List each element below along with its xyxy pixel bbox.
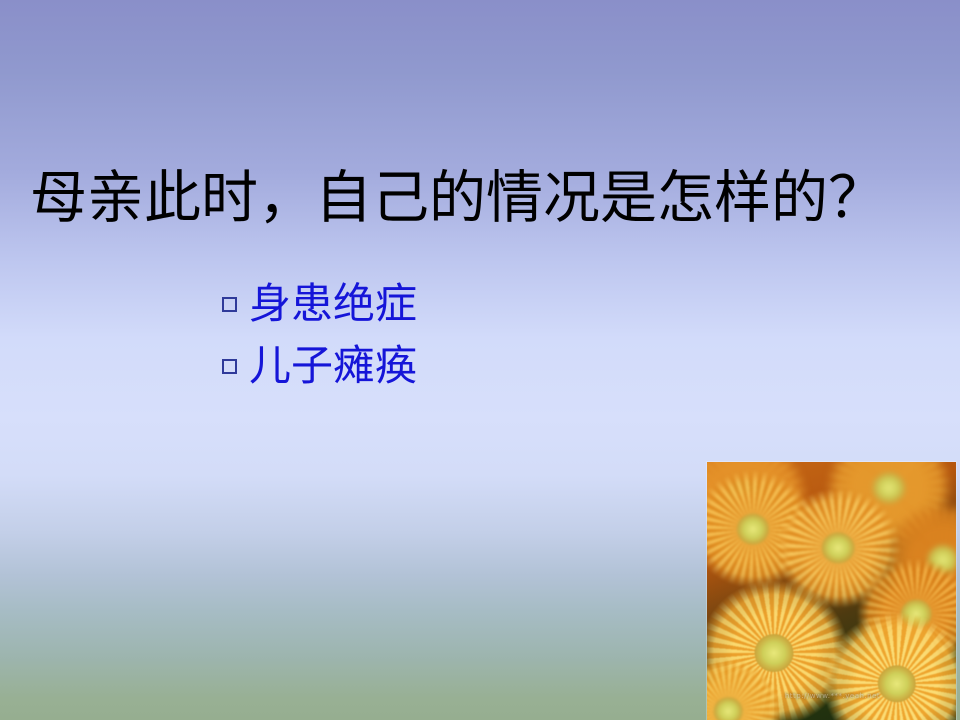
bullet-list: 身患绝症 儿子瘫痪 <box>222 278 742 402</box>
chrysanthemum-photo: http://www.***.yeah.net <box>707 462 956 720</box>
hollow-square-bullet-icon <box>222 359 237 374</box>
list-item: 身患绝症 <box>222 278 742 330</box>
hollow-square-bullet-icon <box>222 297 237 312</box>
list-item: 儿子瘫痪 <box>222 340 742 392</box>
bullet-item-label: 儿子瘫痪 <box>249 343 417 389</box>
slide-canvas: 母亲此时，自己的情况是怎样的？ 身患绝症 儿子瘫痪 <box>0 0 960 720</box>
photo-watermark: http://www.***.yeah.net <box>717 691 948 702</box>
bullet-item-label: 身患绝症 <box>249 281 417 327</box>
page-title: 母亲此时，自己的情况是怎样的？ <box>30 160 930 236</box>
